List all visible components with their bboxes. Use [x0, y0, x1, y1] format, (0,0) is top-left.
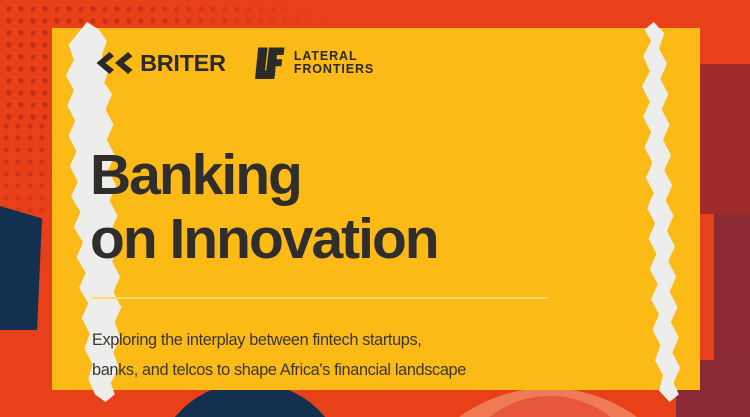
lateral-frontiers-lf-monogram-icon	[255, 46, 285, 80]
decorative-maroon-block-middle	[714, 214, 750, 364]
briter-logo[interactable]: BRITER	[92, 52, 225, 75]
lf-wordmark-line-1: LATERAL	[294, 50, 374, 64]
title-divider	[92, 297, 548, 299]
lateral-frontiers-wordmark: LATERAL FRONTIERS	[294, 50, 374, 77]
briter-double-chevron-icon	[92, 52, 134, 74]
report-cover-slide: BRITER LATERAL FRONTIERS Banking on Inno…	[0, 0, 750, 417]
briter-wordmark: BRITER	[140, 52, 225, 75]
decorative-maroon-block-upper	[698, 64, 750, 214]
torn-paper-edge-right	[630, 22, 696, 402]
logo-row: BRITER LATERAL FRONTIERS	[92, 46, 374, 80]
lf-wordmark-line-2: FRONTIERS	[294, 63, 374, 77]
lateral-frontiers-logo[interactable]: LATERAL FRONTIERS	[255, 46, 374, 80]
page-title: Banking on Innovation	[90, 144, 438, 272]
cover-content: BRITER LATERAL FRONTIERS Banking on Inno…	[90, 28, 590, 390]
page-subtitle: Exploring the interplay between fintech …	[92, 325, 592, 385]
